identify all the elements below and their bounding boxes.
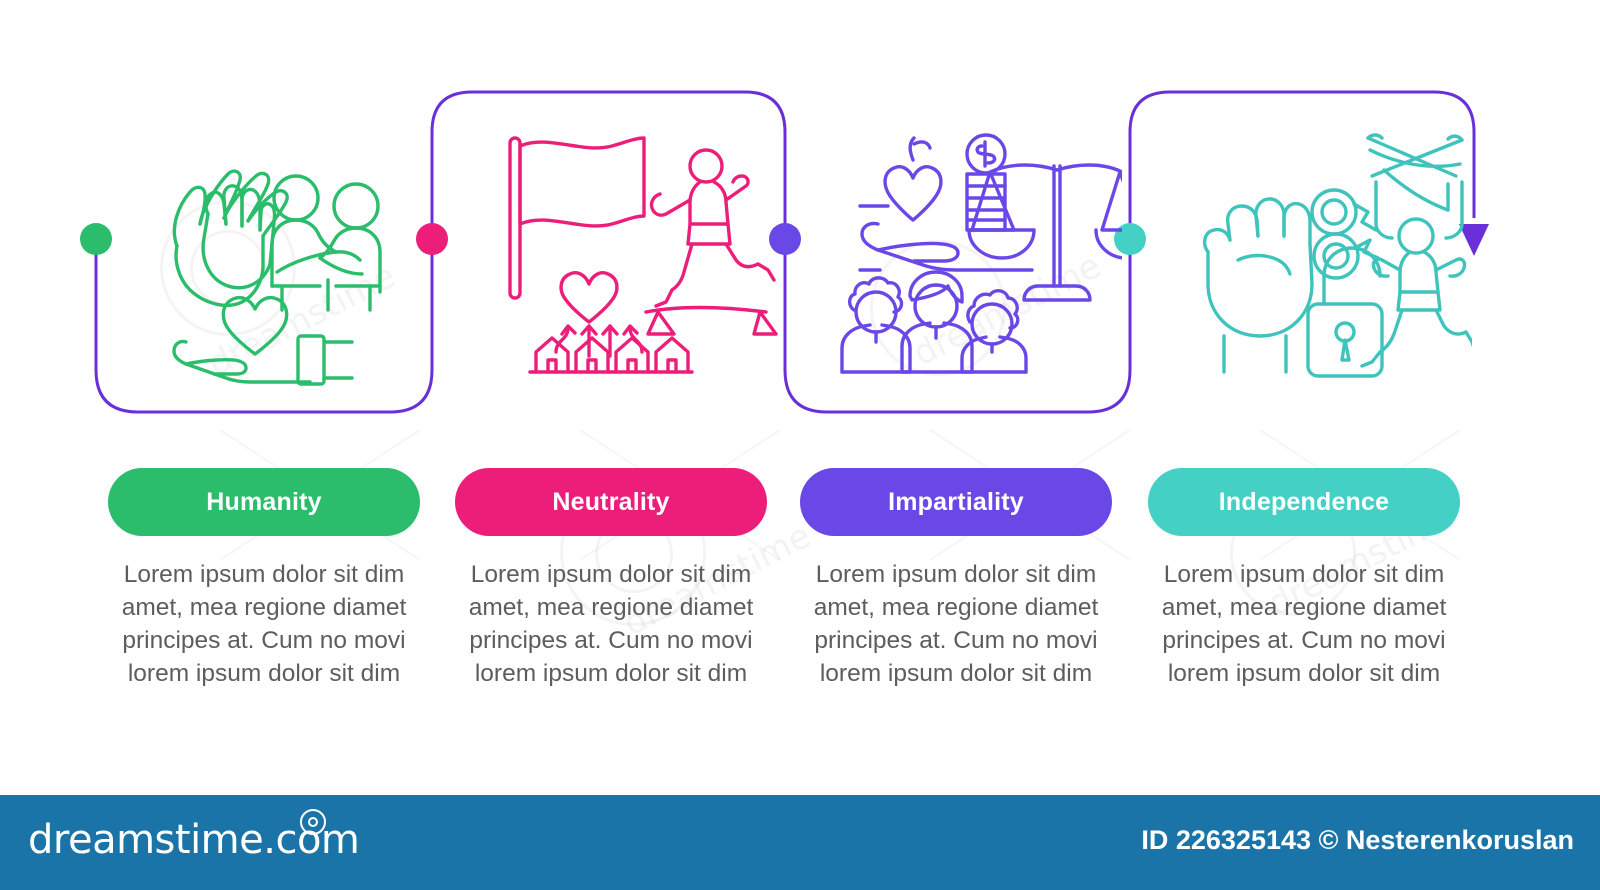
hand-apple-coins-icon (860, 135, 1032, 270)
step-label-pill-independence[interactable]: Independence (1148, 468, 1460, 536)
step-label-text: Impartiality (888, 488, 1024, 517)
step-description: Lorem ipsum dolor sit dim amet, mea regi… (800, 558, 1112, 690)
stock-footer-bar: dreamstime.com ID 226325143 © Nesterenko… (0, 795, 1600, 890)
step-column-impartiality: Impartiality Lorem ipsum dolor sit dim a… (800, 468, 1112, 690)
step-label-pill-impartiality[interactable]: Impartiality (800, 468, 1112, 536)
image-credit: ID 226325143 © Nesterenkoruslan (1141, 825, 1574, 856)
diverse-people-icon (842, 272, 1026, 372)
impartiality-icon (822, 120, 1122, 390)
step-column-neutrality: Neutrality Lorem ipsum dolor sit dim ame… (455, 468, 767, 690)
step-description: Lorem ipsum dolor sit dim amet, mea regi… (108, 558, 420, 690)
heart-in-hand-icon (174, 298, 352, 384)
step-dot-1[interactable] (80, 223, 112, 255)
infographic-canvas: dreamstime dreamstime dreamstime dreamst… (0, 0, 1600, 890)
humanity-icon (130, 120, 430, 390)
cut-puppet-strings-icon (1362, 135, 1472, 366)
step-label-text: Independence (1219, 488, 1390, 517)
independence-icon (1172, 120, 1472, 390)
step-description: Lorem ipsum dolor sit dim amet, mea regi… (455, 558, 767, 690)
helping-hands-icon (174, 171, 287, 305)
step-label-text: Neutrality (552, 488, 669, 517)
step-description: Lorem ipsum dolor sit dim amet, mea regi… (1148, 558, 1460, 690)
raised-fist-icon (1205, 199, 1312, 372)
step-column-independence: Independence Lorem ipsum dolor sit dim a… (1148, 468, 1460, 690)
dreamstime-registered-icon (300, 809, 326, 835)
houses-heart-icon (530, 273, 692, 372)
step-label-pill-neutrality[interactable]: Neutrality (455, 468, 767, 536)
person-balancing-icon (646, 150, 776, 334)
open-padlock-icon (1308, 248, 1382, 376)
neutrality-icon (478, 120, 778, 390)
broken-handcuffs-icon (1312, 190, 1378, 278)
step-label-text: Humanity (206, 488, 322, 517)
step-label-pill-humanity[interactable]: Humanity (108, 468, 420, 536)
step-column-humanity: Humanity Lorem ipsum dolor sit dim amet,… (108, 468, 420, 690)
